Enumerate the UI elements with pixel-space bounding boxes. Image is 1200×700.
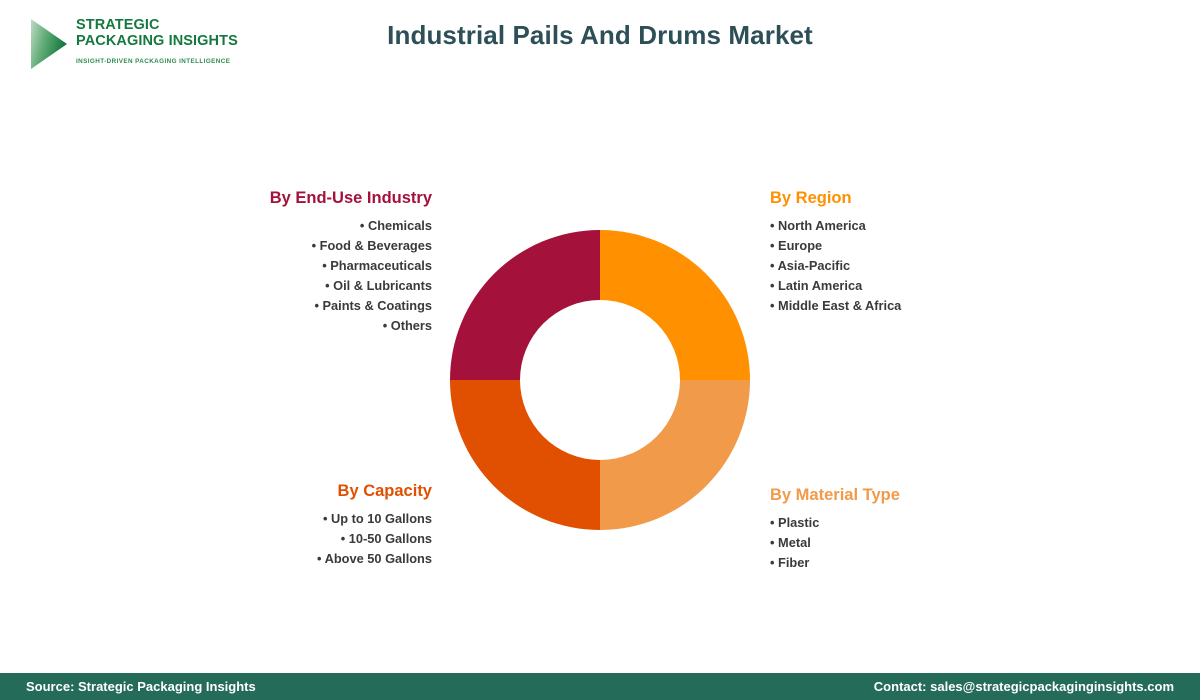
list-item: Europe [770, 236, 1070, 256]
list-item: Food & Beverages [170, 236, 432, 256]
list-item: Latin America [770, 276, 1070, 296]
segment-title-capacity: By Capacity [170, 481, 432, 501]
list-item: 10-50 Gallons [170, 529, 432, 549]
page-title: Industrial Pails And Drums Market [0, 20, 1200, 51]
donut-segment-material [600, 380, 750, 530]
segment-block-material: By Material Type Plastic Metal Fiber [770, 485, 1070, 573]
segment-list-capacity: Up to 10 Gallons 10-50 Gallons Above 50 … [170, 509, 432, 569]
donut-chart [450, 230, 750, 530]
segment-block-region: By Region North America Europe Asia-Paci… [770, 188, 1070, 316]
donut-segment-end-use [450, 230, 600, 380]
segment-title-material: By Material Type [770, 485, 1070, 505]
list-item: Middle East & Africa [770, 296, 1070, 316]
donut-segment-region [600, 230, 750, 380]
footer-source: Source: Strategic Packaging Insights [26, 679, 256, 694]
list-item: Metal [770, 533, 1070, 553]
list-item: Others [170, 316, 432, 336]
segment-list-region: North America Europe Asia-Pacific Latin … [770, 216, 1070, 316]
segment-block-capacity: By Capacity Up to 10 Gallons 10-50 Gallo… [170, 481, 432, 569]
list-item: Paints & Coatings [170, 296, 432, 316]
segment-title-end-use: By End-Use Industry [170, 188, 432, 208]
list-item: Pharmaceuticals [170, 256, 432, 276]
list-item: Above 50 Gallons [170, 549, 432, 569]
list-item: Up to 10 Gallons [170, 509, 432, 529]
segment-list-end-use: Chemicals Food & Beverages Pharmaceutica… [170, 216, 432, 336]
list-item: North America [770, 216, 1070, 236]
list-item: Asia-Pacific [770, 256, 1070, 276]
segment-title-region: By Region [770, 188, 1070, 208]
list-item: Oil & Lubricants [170, 276, 432, 296]
segment-list-material: Plastic Metal Fiber [770, 513, 1070, 573]
list-item: Plastic [770, 513, 1070, 533]
footer-contact: Contact: sales@strategicpackaginginsight… [874, 679, 1174, 694]
list-item: Fiber [770, 553, 1070, 573]
footer-bar: Source: Strategic Packaging Insights Con… [0, 673, 1200, 700]
list-item: Chemicals [170, 216, 432, 236]
donut-segment-capacity [450, 380, 600, 530]
logo-tagline: INSIGHT-DRIVEN PACKAGING INTELLIGENCE [76, 58, 276, 65]
segment-block-end-use: By End-Use Industry Chemicals Food & Bev… [170, 188, 432, 336]
